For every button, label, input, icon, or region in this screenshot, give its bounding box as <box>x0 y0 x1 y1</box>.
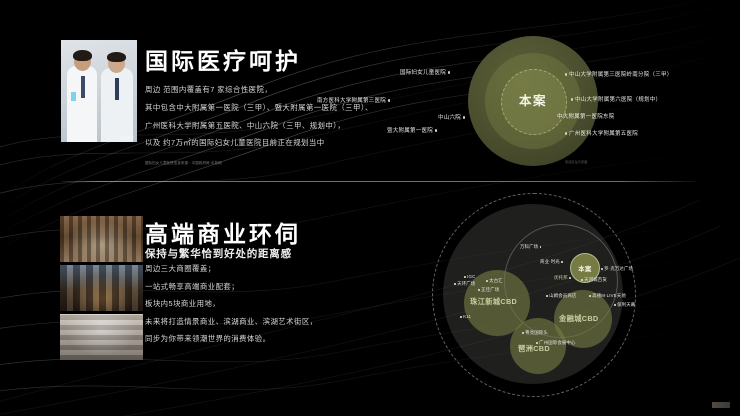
hospital-label: 国际妇女儿童医院 <box>235 68 450 76</box>
photo-credit: 图片来源 <box>120 135 134 140</box>
poi-label: 太古汇 <box>486 278 503 284</box>
district-label-zhujiang: 珠江新城CBD <box>470 297 517 307</box>
hospital-label-text: 南方医科大学附属第三医院 <box>317 98 386 104</box>
doctors-photo: 图片来源 <box>61 40 137 142</box>
poi-label: 粤亮国际头 <box>522 330 548 336</box>
marker-dot-icon <box>565 73 567 75</box>
district-label-jinrongcheng: 金融城CBD <box>559 314 599 324</box>
medical-line: 其中包含中大附属第一医院（三甲）、暨大附属第一医院（三甲）、 <box>145 104 445 111</box>
marker-dot-icon <box>463 116 465 118</box>
marker-dot-icon <box>478 289 480 291</box>
poi-label: 优托邦 <box>554 275 571 281</box>
poi-label: 商业·时光 <box>540 259 563 265</box>
marker-dot-icon <box>601 268 603 270</box>
slide-root: 图片来源 国际医疗呵护 周边 范围内覆盖有7 家综合性医院， 其中包含中大附属第… <box>0 0 740 416</box>
section-medical: 图片来源 国际医疗呵护 周边 范围内覆盖有7 家综合性医院， 其中包含中大附属第… <box>0 0 740 182</box>
poi-label: 山姆会员商店 <box>546 293 576 299</box>
poi-label: 天环广场 <box>454 281 475 287</box>
hospital-label-text: 广州医科大学附属第五医院 <box>569 131 638 137</box>
poi-label: 正佳广场 <box>478 287 499 293</box>
marker-dot-icon <box>571 98 573 100</box>
commercial-subtitle: 保持与繁华恰到好处的距离感 <box>145 246 292 261</box>
medical-line: 以及 约7万㎡的国际妇女儿童医院目前正在规划当中 <box>145 139 445 146</box>
marker-dot-icon <box>565 132 567 134</box>
marker-dot-icon <box>589 295 591 297</box>
commercial-line: 板块内5块商业用地， <box>145 300 395 307</box>
commercial-line: 一站式畅享高端商业配套； <box>145 283 395 290</box>
poi-label: 罗·克万达广场 <box>601 266 633 272</box>
page-title-commercial: 高端商业环伺 <box>145 215 301 249</box>
poi-label: 万科广场 <box>520 244 541 250</box>
medical-footnote: 国际妇女儿童医院信息来源：中国政府网·半岛网 <box>145 160 222 165</box>
marker-dot-icon <box>536 342 538 344</box>
hospital-label: 中山大学附属第六医院（规划中） <box>571 95 661 103</box>
marker-dot-icon <box>561 261 563 263</box>
shopping-mall-photo <box>60 314 143 360</box>
commercial-line: 周边三大商圈覆盖； <box>145 265 395 272</box>
hospital-label-text: 暨大附属第一医院 <box>387 128 433 134</box>
hospital-label: 广州医科大学附属第五医院 <box>565 129 638 137</box>
luxury-arcade-photo <box>60 216 143 262</box>
commercial-body-text: 周边三大商圈覆盖； 一站式畅享高端商业配套； 板块内5块商业用地， 未来将打造情… <box>145 265 395 353</box>
commercial-line: 未来将打造情景商业、滨湖商业、滨湖艺术街区， <box>145 318 395 325</box>
poi-label: 广州国际会展中心 <box>536 340 576 346</box>
hospital-label: 中山大学附属第三医院岭南分院（三甲） <box>565 70 672 78</box>
medical-line: 周边 范围内覆盖有7 家综合性医院， <box>145 86 445 93</box>
marker-dot-icon <box>486 280 488 282</box>
poi-label: 天河城百货 <box>581 277 607 283</box>
commercial-line: 同步为你带来领潮世界的消费体验。 <box>145 335 395 342</box>
section-divider <box>61 181 695 182</box>
hospital-label-text: 国际妇女儿童医院 <box>400 70 446 76</box>
poi-label: 保利天幕 <box>614 302 635 308</box>
marker-dot-icon <box>546 295 548 297</box>
marker-dot-icon <box>435 129 437 131</box>
marker-dot-icon <box>464 276 466 278</box>
hospital-label: 南方医科大学附属第三医院 <box>175 96 390 104</box>
hospital-label: 暨大附属第一医院 <box>222 126 437 134</box>
marker-dot-icon <box>522 332 524 334</box>
hospital-label-text: 中山大学附属第六医院（规划中） <box>575 97 661 103</box>
page-mark <box>712 402 730 408</box>
hospital-label: 中山六院 <box>250 113 465 121</box>
hospital-label-text: 中大附属第一医院东院 <box>557 114 615 120</box>
diagram-footnote: 项目区位示意图 <box>565 160 587 164</box>
marker-dot-icon <box>581 279 583 281</box>
marker-dot-icon <box>448 71 450 73</box>
marker-dot-icon <box>454 283 456 285</box>
cbd-diagram: 珠江新城CBD 金融城CBD 琶洲CBD 本案 万科广场 商业·时光 罗·克万达… <box>418 192 708 397</box>
poi-label: IGC <box>464 274 475 279</box>
night-street-photo <box>60 265 143 311</box>
commercial-photo-stack <box>60 216 143 360</box>
marker-dot-icon <box>460 316 462 318</box>
marker-dot-icon <box>388 99 390 101</box>
poi-label: 高德M·LIVE天地 <box>589 293 626 299</box>
poi-label: K11 <box>460 314 471 319</box>
marker-dot-icon <box>540 246 542 248</box>
marker-dot-icon <box>614 304 616 306</box>
marker-dot-icon <box>569 277 571 279</box>
hospital-label: 中大附属第一医院东院 <box>557 112 615 120</box>
hospital-label-text: 中山大学附属第三医院岭南分院（三甲） <box>569 72 673 78</box>
hospital-label-text: 中山六院 <box>438 115 461 121</box>
